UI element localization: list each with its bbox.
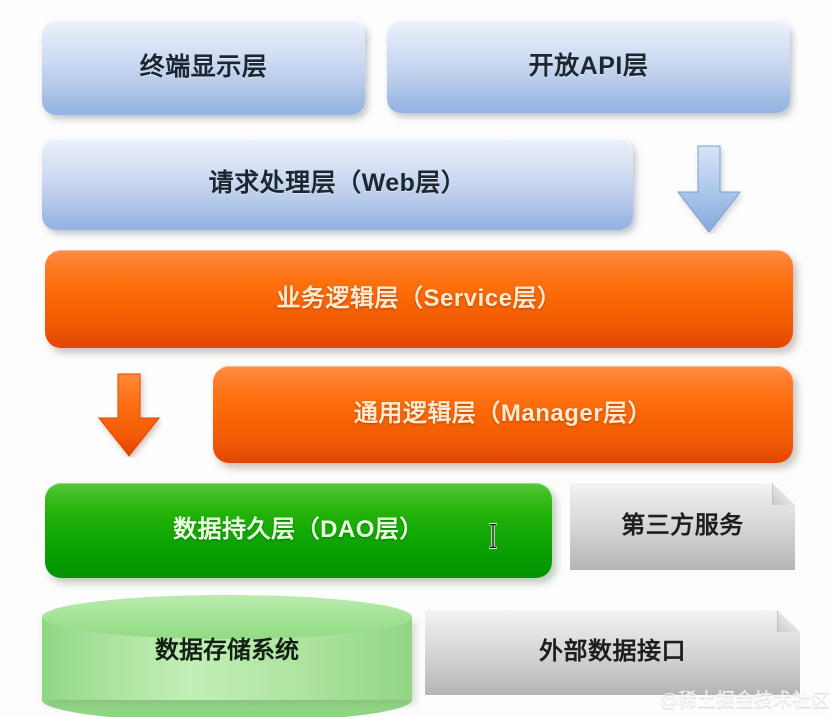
node-label: 数据持久层（DAO层） [173, 517, 424, 543]
folded-corner-icon [772, 483, 795, 505]
node-external-data-interface[interactable]: 外部数据接口 [425, 610, 800, 695]
blue-down-arrow-icon [674, 144, 744, 234]
node-label: 业务逻辑层（Service层） [277, 286, 562, 312]
node-third-party-service[interactable]: 第三方服务 [570, 483, 795, 570]
node-label: 请求处理层（Web层） [209, 170, 467, 198]
node-manager-layer[interactable]: 通用逻辑层（Manager层） [213, 366, 793, 463]
folded-corner-icon [777, 610, 800, 632]
node-label: 第三方服务 [621, 513, 744, 539]
node-data-storage-system[interactable]: 数据存储系统 [42, 595, 412, 700]
orange-down-arrow-icon [96, 372, 162, 458]
node-service-layer[interactable]: 业务逻辑层（Service层） [45, 250, 793, 348]
node-dao-layer[interactable]: 数据持久层（DAO层） [45, 483, 552, 578]
node-terminal-display-layer[interactable]: 终端显示层 [42, 20, 365, 115]
node-open-api-layer[interactable]: 开放API层 [387, 20, 790, 113]
node-label: 通用逻辑层（Manager层） [354, 401, 652, 427]
node-label: 终端显示层 [140, 54, 268, 82]
diagram-canvas: 终端显示层 开放API层 请求处理层（Web层） 业务逻辑层（Service层） [0, 0, 830, 717]
node-label: 外部数据接口 [539, 639, 686, 665]
node-label: 数据存储系统 [42, 595, 412, 700]
node-label: 开放API层 [529, 53, 649, 81]
node-web-request-layer[interactable]: 请求处理层（Web层） [42, 138, 633, 230]
watermark-text: @稀土掘金技术社区 [660, 686, 830, 712]
